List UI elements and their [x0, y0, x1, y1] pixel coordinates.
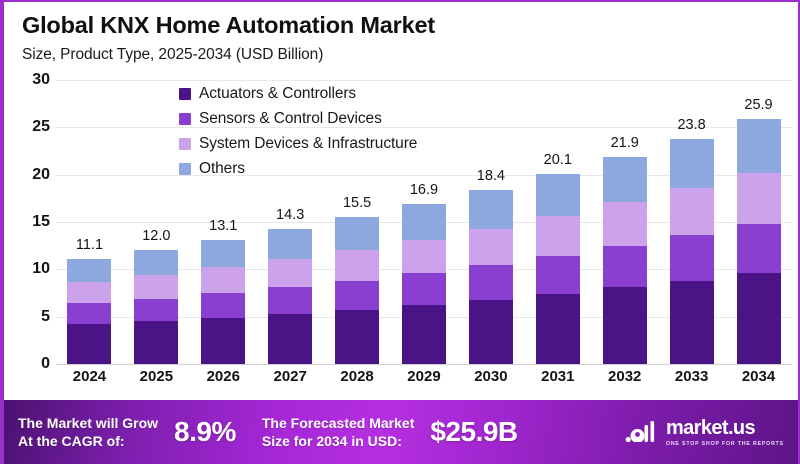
- bar-stack: [335, 217, 379, 364]
- bar-segment: [737, 173, 781, 224]
- bar-segment: [201, 318, 245, 364]
- chart-legend: Actuators & ControllersSensors & Control…: [179, 85, 417, 178]
- bar-value-label: 12.0: [142, 228, 170, 244]
- cagr-label-line1: The Market will Grow: [18, 414, 158, 432]
- bar-column[interactable]: 12.0: [134, 80, 178, 364]
- cagr-value: 8.9%: [174, 416, 236, 448]
- bar-segment: [402, 273, 446, 305]
- bar-series-group: 11.112.013.114.315.516.918.420.121.923.8…: [56, 80, 792, 364]
- bar-segment: [402, 305, 446, 364]
- legend-item[interactable]: Sensors & Control Devices: [179, 110, 417, 128]
- bar-column[interactable]: 18.4: [469, 80, 513, 364]
- bar-segment: [603, 246, 647, 288]
- market-us-logo-icon: [625, 419, 659, 445]
- bar-stack: [268, 229, 312, 364]
- bar-segment: [201, 267, 245, 293]
- bar-stack: [670, 139, 714, 364]
- y-axis-tick: 20: [4, 166, 50, 184]
- bottom-banner: The Market will Grow At the CAGR of: 8.9…: [4, 400, 800, 464]
- bar-segment: [67, 324, 111, 364]
- bar-segment: [268, 287, 312, 314]
- bar-stack: [536, 174, 580, 364]
- page-title: Global KNX Home Automation Market: [22, 12, 800, 39]
- logo-wordmark: market.us: [666, 418, 784, 438]
- bar-segment: [670, 281, 714, 364]
- x-axis-tick: 2028: [335, 368, 379, 385]
- legend-item-label: Sensors & Control Devices: [199, 110, 382, 128]
- x-axis: 2024202520262027202820292030203120322033…: [56, 368, 792, 385]
- x-axis-tick: 2031: [536, 368, 580, 385]
- infographic-root: Global KNX Home Automation Market Size, …: [0, 0, 800, 464]
- market-us-logo[interactable]: market.us ONE STOP SHOP FOR THE REPORTS: [625, 418, 784, 447]
- bar-segment: [67, 303, 111, 324]
- bar-stack: [737, 119, 781, 364]
- chart-header: Global KNX Home Automation Market Size, …: [4, 2, 800, 64]
- bar-value-label: 15.5: [343, 195, 371, 211]
- y-axis: 051015202530: [4, 80, 50, 364]
- bar-stack: [603, 157, 647, 364]
- x-axis-tick: 2024: [67, 368, 111, 385]
- bar-value-label: 18.4: [477, 168, 505, 184]
- logo-tagline: ONE STOP SHOP FOR THE REPORTS: [666, 441, 784, 447]
- bar-segment: [201, 240, 245, 267]
- legend-swatch-icon: [179, 88, 191, 100]
- y-axis-tick: 30: [4, 71, 50, 89]
- bar-segment: [670, 235, 714, 280]
- bar-value-label: 13.1: [209, 218, 237, 234]
- bar-stack: [67, 259, 111, 364]
- y-axis-tick: 5: [4, 308, 50, 326]
- x-axis-tick: 2033: [670, 368, 714, 385]
- bar-segment: [670, 188, 714, 235]
- bar-segment: [469, 190, 513, 229]
- cagr-label-line2: At the CAGR of:: [18, 432, 158, 450]
- y-axis-tick: 10: [4, 260, 50, 278]
- bar-segment: [268, 259, 312, 287]
- bar-segment: [469, 300, 513, 364]
- bar-segment: [603, 202, 647, 246]
- bar-stack: [469, 190, 513, 364]
- bar-segment: [536, 216, 580, 256]
- bar-segment: [67, 282, 111, 304]
- forecast-label: The Forecasted Market Size for 2034 in U…: [262, 414, 415, 450]
- bar-segment: [268, 314, 312, 364]
- bar-segment: [134, 275, 178, 299]
- bar-segment: [469, 229, 513, 265]
- forecast-value: $25.9B: [430, 416, 517, 448]
- bar-segment: [67, 259, 111, 282]
- legend-swatch-icon: [179, 163, 191, 175]
- legend-item-label: Others: [199, 160, 245, 178]
- legend-item-label: Actuators & Controllers: [199, 85, 356, 103]
- legend-swatch-icon: [179, 138, 191, 150]
- bar-segment: [737, 224, 781, 273]
- cagr-label: The Market will Grow At the CAGR of:: [18, 414, 158, 450]
- forecast-label-line2: Size for 2034 in USD:: [262, 432, 415, 450]
- bar-segment: [268, 229, 312, 259]
- bar-segment: [737, 119, 781, 173]
- bar-segment: [603, 287, 647, 364]
- bar-segment: [402, 204, 446, 240]
- bar-segment: [335, 250, 379, 280]
- bar-column[interactable]: 20.1: [536, 80, 580, 364]
- y-axis-tick: 0: [4, 355, 50, 373]
- bar-segment: [134, 321, 178, 364]
- bar-segment: [134, 250, 178, 275]
- bar-stack: [201, 240, 245, 364]
- bar-stack: [134, 250, 178, 364]
- bar-segment: [536, 174, 580, 217]
- y-axis-tick: 15: [4, 213, 50, 231]
- bar-value-label: 16.9: [410, 182, 438, 198]
- bar-column[interactable]: 25.9: [737, 80, 781, 364]
- x-axis-tick: 2026: [201, 368, 245, 385]
- bar-stack: [402, 204, 446, 364]
- legend-swatch-icon: [179, 113, 191, 125]
- bar-segment: [335, 281, 379, 310]
- bar-segment: [201, 293, 245, 318]
- bar-segment: [402, 240, 446, 273]
- bar-value-label: 14.3: [276, 207, 304, 223]
- bar-value-label: 21.9: [611, 135, 639, 151]
- bar-segment: [603, 157, 647, 202]
- forecast-label-line1: The Forecasted Market: [262, 414, 415, 432]
- bar-column[interactable]: 23.8: [670, 80, 714, 364]
- bar-value-label: 11.1: [76, 237, 103, 253]
- legend-item[interactable]: Others: [179, 160, 417, 178]
- x-axis-tick: 2025: [134, 368, 178, 385]
- market-us-logo-text: market.us ONE STOP SHOP FOR THE REPORTS: [666, 418, 784, 447]
- x-axis-tick: 2034: [737, 368, 781, 385]
- bar-segment: [469, 265, 513, 300]
- legend-item[interactable]: System Devices & Infrastructure: [179, 135, 417, 153]
- bar-column[interactable]: 21.9: [603, 80, 647, 364]
- legend-item-label: System Devices & Infrastructure: [199, 135, 417, 153]
- bar-segment: [335, 217, 379, 250]
- legend-item[interactable]: Actuators & Controllers: [179, 85, 417, 103]
- bar-segment: [134, 299, 178, 322]
- bar-value-label: 23.8: [677, 117, 705, 133]
- x-axis-tick: 2032: [603, 368, 647, 385]
- bar-segment: [335, 310, 379, 364]
- axis-baseline: [56, 364, 792, 365]
- x-axis-tick: 2030: [469, 368, 513, 385]
- bar-segment: [536, 256, 580, 294]
- x-axis-tick: 2029: [402, 368, 446, 385]
- chart-subtitle: Size, Product Type, 2025-2034 (USD Billi…: [22, 46, 800, 64]
- bar-value-label: 20.1: [544, 152, 572, 168]
- bar-column[interactable]: 11.1: [67, 80, 111, 364]
- bar-segment: [670, 139, 714, 188]
- x-axis-tick: 2027: [268, 368, 312, 385]
- bar-segment: [737, 273, 781, 364]
- bar-segment: [536, 294, 580, 364]
- bar-value-label: 25.9: [744, 97, 772, 113]
- y-axis-tick: 25: [4, 118, 50, 136]
